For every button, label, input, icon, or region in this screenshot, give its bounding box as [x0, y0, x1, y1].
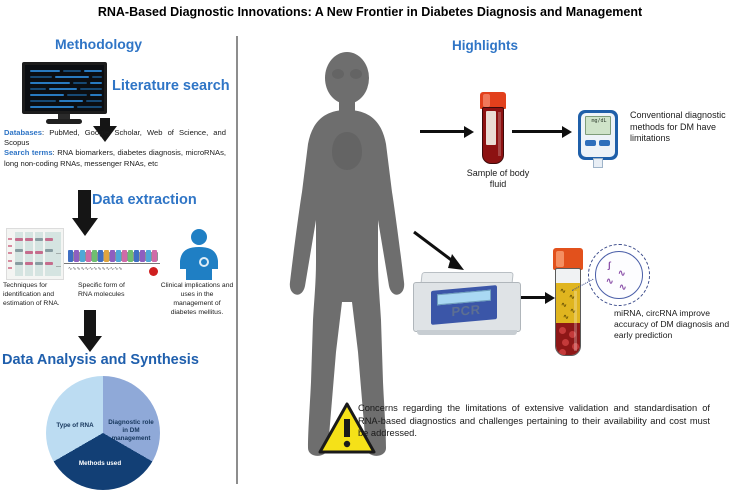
- glucometer-icon: mg/dL: [578, 110, 618, 168]
- rna-sequence-icon: ∿∿∿∿∿∿∿∿∿∿∿∿∿ — —: [56, 250, 160, 280]
- arrow-body-to-pcr: [412, 228, 472, 276]
- flow-arrow-down-3: [78, 310, 104, 354]
- mirna-circrna-text: miRNA, circRNA improve accuracy of DM di…: [614, 308, 734, 341]
- caption-clinical-implications: Clinical implications and uses in the ma…: [160, 281, 234, 317]
- methodology-heading: Methodology: [55, 36, 142, 52]
- rna-magnified-inset-icon: ∫ ∿ ∿ ∿: [588, 244, 650, 306]
- data-extraction-heading: Data extraction: [92, 192, 197, 208]
- computer-monitor-icon: [22, 62, 107, 124]
- pie-label-methods-used: Methods used: [76, 460, 124, 468]
- panel-divider: [236, 36, 238, 484]
- caption-techniques: Techniques for identification and estima…: [3, 281, 69, 308]
- pcr-thermocycler-icon: PCR: [413, 272, 521, 338]
- centrifuged-rna-tube-icon: ∿ ∿ ∿ ∿ ∿: [553, 248, 583, 356]
- search-terms-label: Search terms: [4, 148, 53, 157]
- conventional-methods-text: Conventional diagnostic methods for DM h…: [630, 110, 732, 145]
- caption-rna-form: Specific form of RNA molecules: [78, 281, 136, 299]
- methodology-text: Databases: PubMed, Google Scholar, Web o…: [4, 128, 226, 169]
- arrow-body-to-sample: [420, 126, 478, 138]
- glucometer-display: mg/dL: [586, 118, 612, 124]
- pie-label-diagnostic-role: Diagnostic role in DM management: [106, 419, 156, 443]
- arrow-sample-to-glucometer: [512, 126, 574, 138]
- data-analysis-pie-chart: Type of RNA Diagnostic role in DM manage…: [28, 376, 198, 490]
- arrow-pcr-to-rna-tube: [521, 292, 557, 304]
- concerns-text: Concerns regarding the limitations of ex…: [358, 402, 710, 440]
- literature-search-heading: Literature search: [112, 78, 230, 94]
- databases-label: Databases: [4, 128, 42, 137]
- human-body-silhouette-icon: [272, 52, 422, 462]
- sample-of-body-fluid-label: Sample of body fluid: [462, 168, 534, 190]
- highlights-heading: Highlights: [452, 38, 518, 53]
- data-analysis-heading: Data Analysis and Synthesis: [2, 352, 199, 368]
- graphical-abstract: RNA-Based Diagnostic Innovations: A New …: [0, 0, 737, 492]
- pie-label-type-of-rna: Type of RNA: [54, 422, 96, 430]
- blood-collection-tube-icon: [480, 92, 506, 164]
- patient-person-icon: [170, 228, 228, 280]
- page-title: RNA-Based Diagnostic Innovations: A New …: [70, 4, 670, 20]
